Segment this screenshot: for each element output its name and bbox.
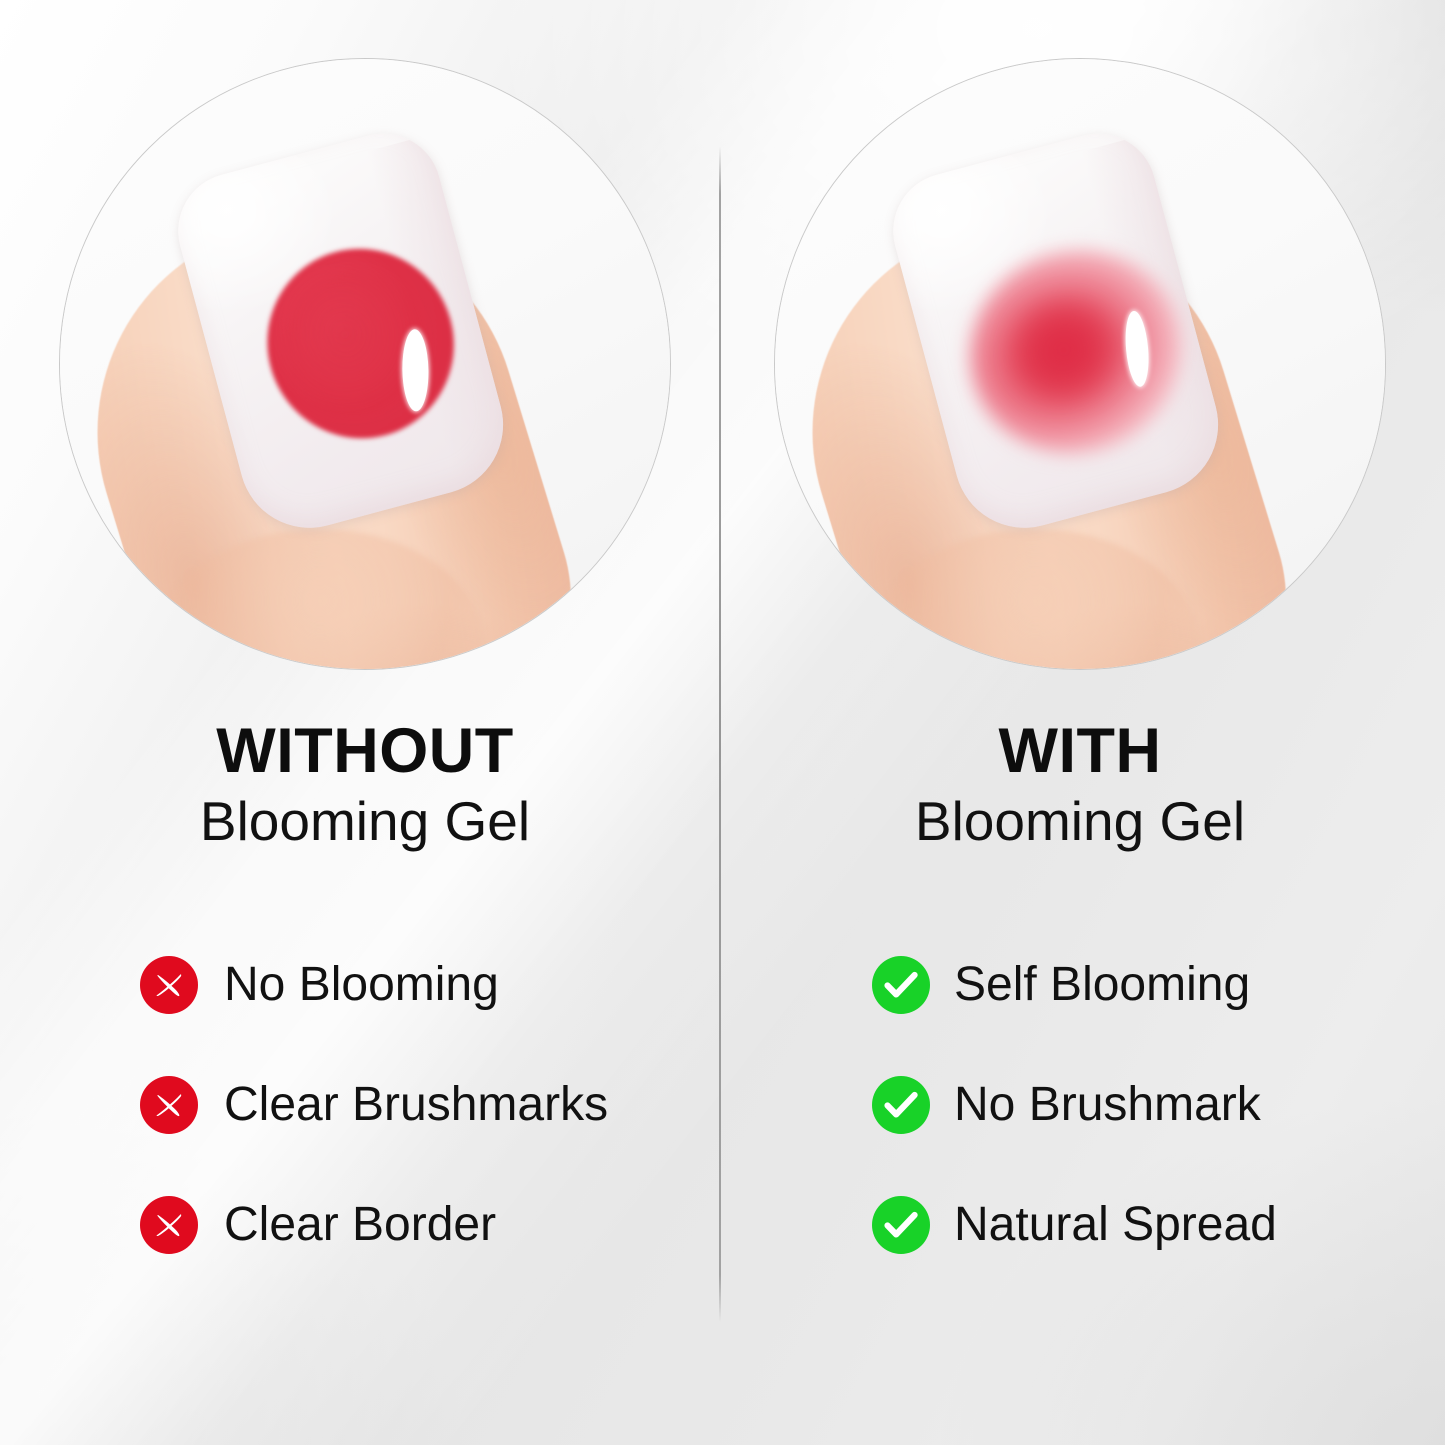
list-item-label: No Brushmark [954, 1081, 1261, 1129]
center-divider-line [719, 146, 721, 1322]
subtitle-with: Blooming Gel [774, 789, 1386, 854]
heading-block-without: WITHOUT Blooming Gel [59, 718, 671, 854]
cross-icon [140, 1196, 198, 1254]
list-item: Self Blooming [872, 955, 1412, 1015]
photo-without-blooming-gel [59, 58, 671, 670]
cross-icon [140, 1076, 198, 1134]
feature-list-with: Self Blooming No Brushmark Natural Sprea… [872, 955, 1412, 1315]
list-item: Clear Border [140, 1195, 700, 1255]
list-item-label: Clear Border [224, 1201, 496, 1249]
list-item-label: No Blooming [224, 961, 499, 1009]
list-item-label: Natural Spread [954, 1201, 1277, 1249]
heading-block-with: WITH Blooming Gel [774, 718, 1386, 854]
cross-icon [140, 956, 198, 1014]
page-title-with: WITH [774, 718, 1386, 785]
check-icon [872, 1076, 930, 1134]
feature-list-without: No Blooming Clear Brushmarks Clear Borde… [140, 955, 700, 1315]
page-title-without: WITHOUT [59, 718, 671, 785]
list-item-label: Clear Brushmarks [224, 1081, 608, 1129]
check-icon [872, 956, 930, 1014]
photo-with-blooming-gel [774, 58, 1386, 670]
comparison-infographic: WITHOUT Blooming Gel WITH Blooming Gel N… [0, 0, 1445, 1445]
subtitle-without: Blooming Gel [59, 789, 671, 854]
list-item-label: Self Blooming [954, 961, 1250, 1009]
list-item: No Brushmark [872, 1075, 1412, 1135]
list-item: Clear Brushmarks [140, 1075, 700, 1135]
list-item: No Blooming [140, 955, 700, 1015]
check-icon [872, 1196, 930, 1254]
list-item: Natural Spread [872, 1195, 1412, 1255]
